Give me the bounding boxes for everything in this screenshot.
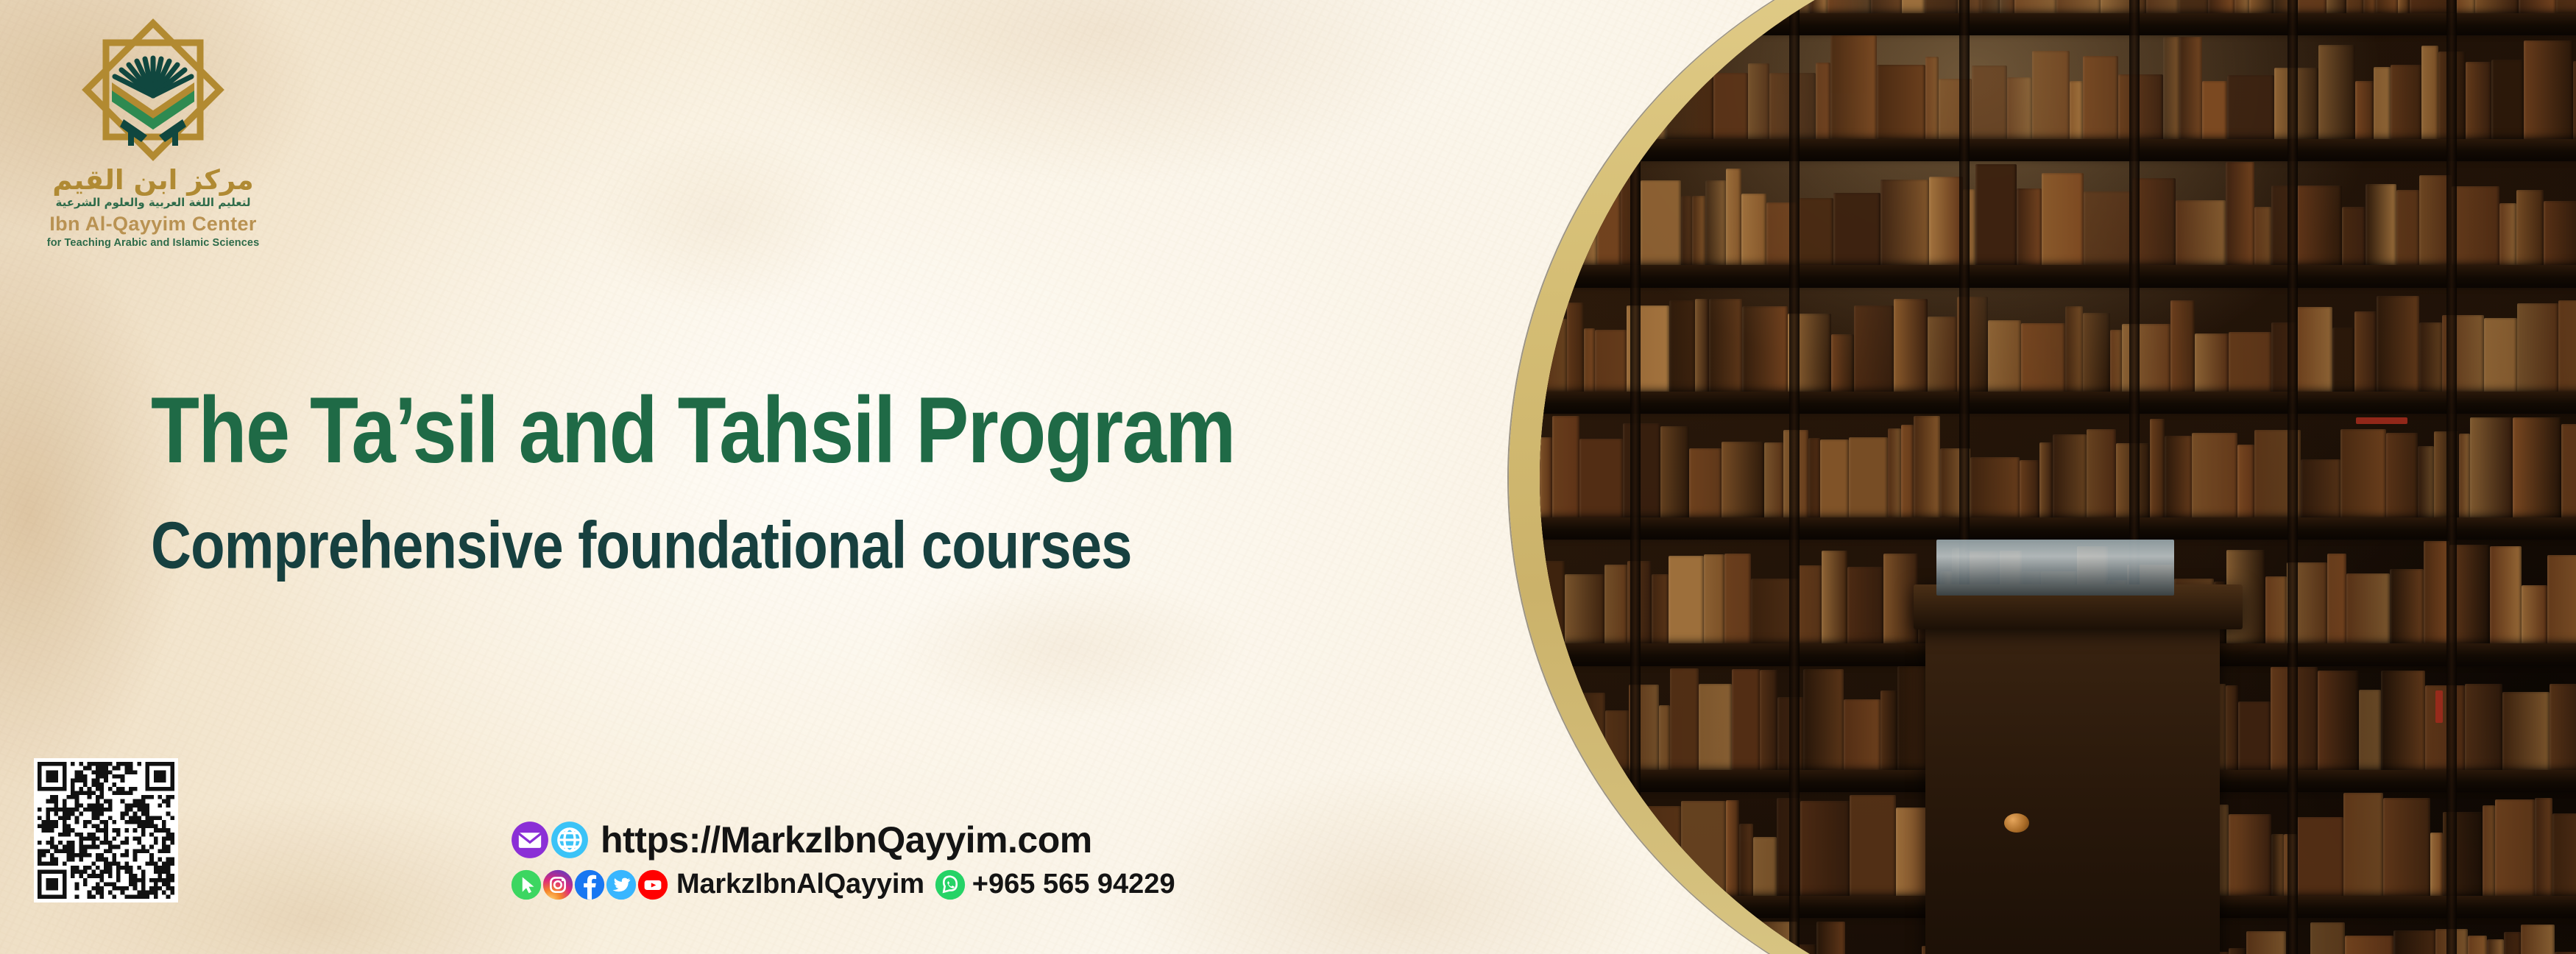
book-spine xyxy=(2470,417,2513,517)
book-spine xyxy=(2042,173,2084,265)
book-spine xyxy=(2419,322,2442,392)
book-spine xyxy=(1704,554,1724,644)
book-spine xyxy=(1897,666,1927,770)
book-spine xyxy=(2547,555,2576,643)
book-spine xyxy=(2021,323,2065,392)
book-spine xyxy=(1753,837,1777,896)
book-spine xyxy=(1666,77,1713,140)
whatsapp-icon[interactable] xyxy=(935,869,966,900)
book-spine xyxy=(1975,164,2017,265)
website-globe-icon[interactable] xyxy=(551,821,589,859)
book-spine xyxy=(2393,930,2435,954)
book-spine xyxy=(2110,330,2123,392)
book-spine xyxy=(1894,299,1928,392)
book-spine xyxy=(2558,300,2576,391)
book-spine xyxy=(2386,433,2417,517)
book-spine xyxy=(2396,190,2419,265)
logo-english-tagline: for Teaching Arabic and Islamic Sciences xyxy=(21,237,286,249)
shelf-upright xyxy=(1630,0,1641,954)
book-spine xyxy=(2418,446,2434,517)
book-spine xyxy=(1713,73,1748,139)
book-spine xyxy=(2202,81,2227,139)
book-spine xyxy=(2354,311,2377,392)
book-spine xyxy=(1668,932,1699,954)
shelf-books xyxy=(1540,0,2576,13)
book-spine xyxy=(2421,46,2438,139)
book-spine xyxy=(1972,66,2007,139)
book-spine xyxy=(1981,0,2000,13)
qr-code-image xyxy=(38,762,174,899)
book-spine xyxy=(2226,162,2254,265)
book-spine xyxy=(2227,75,2274,139)
book-spine xyxy=(1540,0,1554,13)
book-spine xyxy=(2179,0,2209,13)
book-spine xyxy=(2516,190,2544,265)
book-spine xyxy=(1888,428,1901,517)
book-spine xyxy=(2301,459,2340,517)
book-spine xyxy=(1554,941,1586,954)
book-spine xyxy=(1540,561,1565,643)
book-spine xyxy=(1739,824,1753,896)
social-handle[interactable]: MarkzIbnAlQayyim xyxy=(676,869,924,900)
book-spine xyxy=(2519,0,2556,13)
book-spine xyxy=(2456,0,2475,13)
book-spine xyxy=(1709,299,1742,392)
book-spine xyxy=(1659,705,1671,770)
book-spine xyxy=(1810,0,1827,13)
book-spine xyxy=(1540,685,1566,770)
book-spine xyxy=(2318,671,2359,770)
book-spine xyxy=(2070,81,2083,139)
book-spine xyxy=(2466,62,2491,139)
shelf-upright xyxy=(1789,0,1800,954)
book-spine xyxy=(1816,63,1830,140)
book-spine xyxy=(1827,0,1870,13)
book-spine xyxy=(2208,0,2234,13)
book-spine xyxy=(2265,576,2287,644)
rub-el-hizb-open-book-emblem xyxy=(79,16,227,163)
book-spine xyxy=(2383,798,2431,896)
book-spine xyxy=(1871,0,1902,13)
book-spine xyxy=(1699,684,1731,769)
book-spine xyxy=(1666,0,1713,13)
book-spine xyxy=(1540,835,1551,896)
book-spine xyxy=(1732,669,1760,770)
book-spine xyxy=(2237,445,2254,517)
book-spine xyxy=(2524,40,2573,140)
book-spine xyxy=(2343,793,2383,896)
book-spine xyxy=(1925,57,1939,140)
book-spine xyxy=(2502,692,2550,769)
shelf-books xyxy=(1540,35,2576,139)
shelf-board xyxy=(1540,13,2576,35)
center-logo[interactable]: مركز ابن القيم لتعليم اللغة العربية والع… xyxy=(21,16,286,249)
book-spine xyxy=(2544,201,2576,265)
book-spine xyxy=(1764,442,1783,518)
book-spine xyxy=(2452,186,2499,265)
twitter-icon[interactable] xyxy=(606,869,637,900)
book-spine xyxy=(2390,569,2424,643)
book-spine xyxy=(2234,0,2249,13)
book-spine xyxy=(1800,801,1850,896)
book-spine xyxy=(1901,425,1913,518)
book-spine xyxy=(2359,690,2381,770)
logo-arabic-tagline: لتعليم اللغة العربية والعلوم الشرعية xyxy=(21,196,286,209)
website-url[interactable]: https://MarkzIbnQayyim.com xyxy=(601,819,1092,861)
book-spine xyxy=(1681,196,1693,266)
book-spine xyxy=(2517,303,2558,392)
book-spine xyxy=(1724,554,1751,644)
shelf-books xyxy=(1540,288,2576,392)
book-spine xyxy=(1820,439,1848,517)
book-spine xyxy=(2483,805,2495,896)
book-spine xyxy=(2573,61,2576,139)
book-spine xyxy=(2229,948,2246,954)
book-spine xyxy=(2039,442,2053,517)
book-spine xyxy=(2424,541,2449,644)
book-spine xyxy=(2377,296,2419,392)
book-spine xyxy=(1669,556,1704,644)
book-spine xyxy=(2391,65,2421,140)
qr-code[interactable] xyxy=(34,758,178,902)
book-spine xyxy=(1929,177,1963,265)
reading-desk xyxy=(1925,612,2220,954)
book-spine xyxy=(1902,0,1925,13)
book-spine xyxy=(1597,164,1621,266)
book-spine xyxy=(2165,436,2192,517)
book-spine xyxy=(2254,207,2271,265)
book-spine xyxy=(1623,423,1660,517)
book-spine xyxy=(2179,37,2203,139)
book-spine xyxy=(2490,546,2522,643)
book-spine xyxy=(2504,932,2521,954)
book-spine xyxy=(2491,60,2524,139)
book-spine xyxy=(1798,565,1822,644)
book-spine xyxy=(2430,833,2443,896)
contact-row-website: https://MarkzIbnQayyim.com xyxy=(511,819,1175,861)
book-spine xyxy=(2083,313,2110,392)
book-spine xyxy=(1734,0,1777,13)
shelf-upright xyxy=(2287,0,2298,954)
book-spine xyxy=(1816,922,1845,954)
book-spine xyxy=(2513,417,2561,517)
book-spine xyxy=(1579,0,1626,13)
book-spine xyxy=(2000,0,2014,13)
shelf-board xyxy=(1540,139,2576,161)
book-spine xyxy=(2056,0,2100,13)
banner-root: مركز ابن القيم لتعليم اللغة العربية والع… xyxy=(0,0,2576,954)
book-spine xyxy=(1552,416,1579,517)
book-spine xyxy=(2561,424,2576,517)
book-spine xyxy=(2332,328,2354,392)
book-spine xyxy=(1797,944,1816,954)
desk-knob xyxy=(2004,813,2029,833)
book-spine xyxy=(2226,685,2239,770)
shelf-board xyxy=(1540,265,2576,287)
book-spine xyxy=(2398,0,2410,13)
book-spine xyxy=(2535,798,2552,896)
book-spine xyxy=(1551,814,1599,896)
book-spine xyxy=(1713,0,1735,13)
book-spine xyxy=(2355,81,2373,139)
shelf-upright xyxy=(2446,0,2457,954)
book-spine xyxy=(2374,67,2391,140)
book-spine xyxy=(2499,203,2516,265)
book-spine xyxy=(1850,795,1896,896)
book-spine xyxy=(1830,35,1877,139)
book-spine xyxy=(1689,448,1722,517)
book-spine xyxy=(1604,565,1627,644)
book-spine xyxy=(2556,0,2576,13)
shelf-books xyxy=(1540,161,2576,265)
book-spine xyxy=(1669,300,1695,391)
book-spine xyxy=(2014,0,2057,13)
book-spine xyxy=(2192,433,2237,517)
book-spine xyxy=(2032,51,2070,139)
book-spine xyxy=(2522,585,2547,644)
book-spine xyxy=(1925,0,1957,13)
book-spine xyxy=(1643,806,1680,896)
shelf-board xyxy=(1540,517,2576,540)
book-spine xyxy=(2363,0,2376,13)
book-spine xyxy=(2146,0,2179,13)
book-spine xyxy=(1540,437,1552,517)
book-spine xyxy=(1560,187,1596,265)
book-spine xyxy=(1607,928,1625,954)
book-spine xyxy=(1670,668,1699,770)
book-spine xyxy=(2487,939,2504,954)
red-book-spine xyxy=(2435,690,2443,723)
phone-number[interactable]: +965 565 94229 xyxy=(972,869,1175,900)
book-spine xyxy=(1877,65,1925,139)
book-spine xyxy=(2020,460,2039,517)
book-spine xyxy=(2170,300,2195,392)
book-spine xyxy=(1540,66,1556,139)
book-spine xyxy=(1760,670,1777,769)
book-spine xyxy=(1695,299,1709,391)
book-spine xyxy=(2007,77,2032,140)
book-spine xyxy=(2346,573,2389,644)
facebook-icon[interactable] xyxy=(574,869,605,900)
book-spine xyxy=(2521,925,2555,954)
book-spine xyxy=(2297,307,2332,392)
book-spine xyxy=(2249,0,2274,13)
book-spine xyxy=(2366,184,2396,265)
book-spine xyxy=(2484,318,2517,391)
book-spine xyxy=(1540,200,1560,266)
book-spine xyxy=(1880,690,1897,770)
book-spine xyxy=(2084,191,2131,266)
book-spine xyxy=(2342,207,2366,265)
book-spine xyxy=(1699,948,1720,954)
book-spine xyxy=(2340,429,2386,517)
book-spine xyxy=(2087,429,2116,518)
instagram-icon[interactable] xyxy=(542,869,573,900)
book-spine xyxy=(2495,799,2535,896)
book-spine xyxy=(2297,185,2343,266)
email-icon[interactable] xyxy=(511,821,549,859)
shelf-books xyxy=(1540,414,2576,517)
book-spine xyxy=(2238,702,2271,770)
book-spine xyxy=(2195,333,2229,392)
book-spine xyxy=(1556,49,1592,139)
book-spine xyxy=(1692,196,1705,266)
book-spine xyxy=(1641,180,1681,266)
book-spine xyxy=(2552,813,2576,896)
book-spine xyxy=(1970,457,2020,517)
snapchat-icon[interactable] xyxy=(511,869,542,900)
shelf-board xyxy=(1540,392,2576,414)
book-spine xyxy=(2381,671,2425,770)
book-spine xyxy=(1681,801,1726,896)
book-spine xyxy=(2465,684,2502,770)
book-spine xyxy=(1822,551,1847,644)
book-spine xyxy=(2376,0,2398,13)
book-spine xyxy=(2246,931,2286,954)
book-spine xyxy=(1928,317,1957,392)
book-spine xyxy=(1748,63,1769,140)
book-spine xyxy=(1880,180,1929,266)
book-spine xyxy=(2310,922,2345,954)
book-spine xyxy=(2327,554,2346,644)
book-spine xyxy=(2163,37,2179,139)
book-spine xyxy=(2150,419,2164,517)
book-spine xyxy=(2083,56,2118,140)
book-spine xyxy=(2425,685,2466,769)
contact-row-social: MarkzIbnAlQayyim +965 565 94229 xyxy=(511,869,1175,900)
red-book-marker xyxy=(2356,417,2407,424)
book-spine xyxy=(1849,437,1889,517)
logo-arabic-name: مركز ابن القيم xyxy=(21,166,286,195)
book-spine xyxy=(2053,434,2087,517)
book-spine xyxy=(1726,169,1741,265)
book-spine xyxy=(1540,941,1554,954)
page-subtitle: Comprehensive foundational courses xyxy=(151,508,1132,584)
book-spine xyxy=(1567,303,1583,392)
book-spine xyxy=(1988,320,2020,392)
book-spine xyxy=(2468,936,2487,954)
book-spine xyxy=(2229,814,2271,896)
library-photo-panel xyxy=(1531,0,2576,954)
book-spine xyxy=(2326,0,2346,13)
book-spine xyxy=(1705,180,1727,265)
book-spine xyxy=(1652,574,1669,644)
book-spine xyxy=(2318,45,2355,139)
book-spine xyxy=(1722,442,1764,517)
book-spine xyxy=(1833,193,1881,266)
book-spine xyxy=(1554,0,1579,13)
book-spine xyxy=(2345,936,2393,954)
book-spine xyxy=(2271,834,2284,896)
book-spine xyxy=(1540,319,1567,391)
book-spine xyxy=(2229,332,2271,391)
page-title: The Ta’sil and Tahsil Program xyxy=(151,375,1235,484)
book-spine xyxy=(2346,0,2363,13)
book-spine xyxy=(2298,0,2327,13)
logo-english-name: Ibn Al-Qayyim Center xyxy=(21,213,286,236)
book-spine xyxy=(1831,334,1854,392)
book-spine xyxy=(1803,669,1844,770)
book-spine xyxy=(2475,0,2519,13)
book-spine xyxy=(1592,69,1625,139)
book-spine xyxy=(2550,684,2576,770)
book-spine xyxy=(2065,306,2083,392)
book-spine xyxy=(1565,574,1604,643)
book-spine xyxy=(1579,439,1624,517)
book-spine xyxy=(1847,567,1883,643)
book-spine xyxy=(1584,328,1596,392)
book-spine xyxy=(1741,194,1767,265)
book-spine xyxy=(1808,438,1821,517)
book-spine xyxy=(1844,699,1880,769)
book-spine xyxy=(1660,426,1689,517)
book-spine xyxy=(1595,330,1627,392)
book-spine xyxy=(2017,188,2041,265)
youtube-icon[interactable] xyxy=(637,869,668,900)
book-spine xyxy=(1605,710,1629,770)
book-spine xyxy=(1726,800,1739,896)
book-spine xyxy=(1914,416,1940,518)
book-spine xyxy=(1798,198,1833,266)
book-spine xyxy=(1854,305,1894,392)
book-spine xyxy=(1742,306,1787,392)
contact-bar: https://MarkzIbnQayyim.com xyxy=(511,819,1175,900)
book-spine xyxy=(2459,434,2470,517)
book-spine xyxy=(1566,693,1604,770)
book-spine xyxy=(2176,200,2226,265)
old-library-bookshelves-photo xyxy=(1540,0,2576,954)
book-spine xyxy=(2297,817,2343,896)
book-spine xyxy=(1883,554,1919,644)
papers-on-desk xyxy=(1936,540,2174,596)
book-spine xyxy=(2118,74,2163,139)
